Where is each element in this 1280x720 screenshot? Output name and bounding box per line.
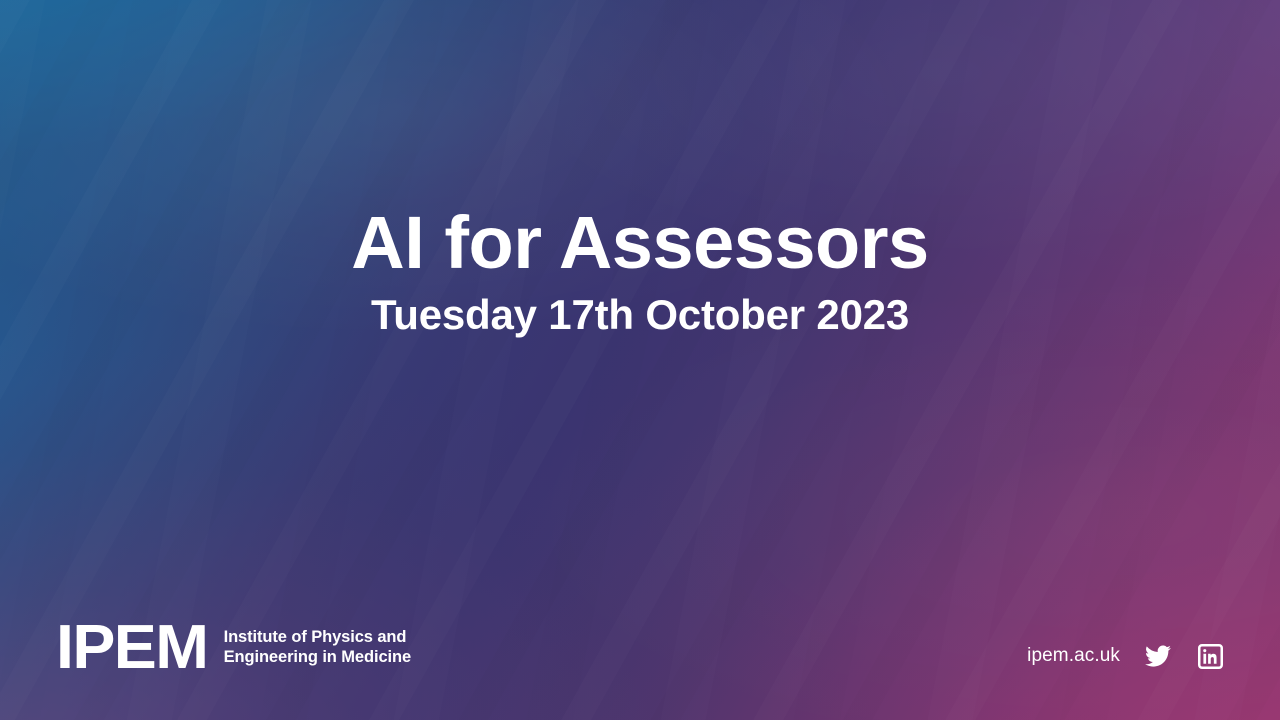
page-title: AI for Assessors	[0, 206, 1280, 280]
ipem-tagline: Institute of Physics and Engineering in …	[224, 627, 411, 667]
footer-social-bar: ipem.ac.uk	[1027, 642, 1224, 670]
ipem-logo: IPEM Institute of Physics and Engineerin…	[56, 621, 411, 674]
title-slide: AI for Assessors Tuesday 17th October 20…	[0, 0, 1280, 720]
linkedin-icon[interactable]	[1196, 642, 1224, 670]
twitter-icon[interactable]	[1144, 642, 1172, 670]
ipem-wordmark: IPEM	[56, 621, 207, 674]
slide-date-subtitle: Tuesday 17th October 2023	[0, 294, 1280, 336]
website-url[interactable]: ipem.ac.uk	[1027, 645, 1120, 667]
title-block: AI for Assessors Tuesday 17th October 20…	[0, 206, 1280, 336]
